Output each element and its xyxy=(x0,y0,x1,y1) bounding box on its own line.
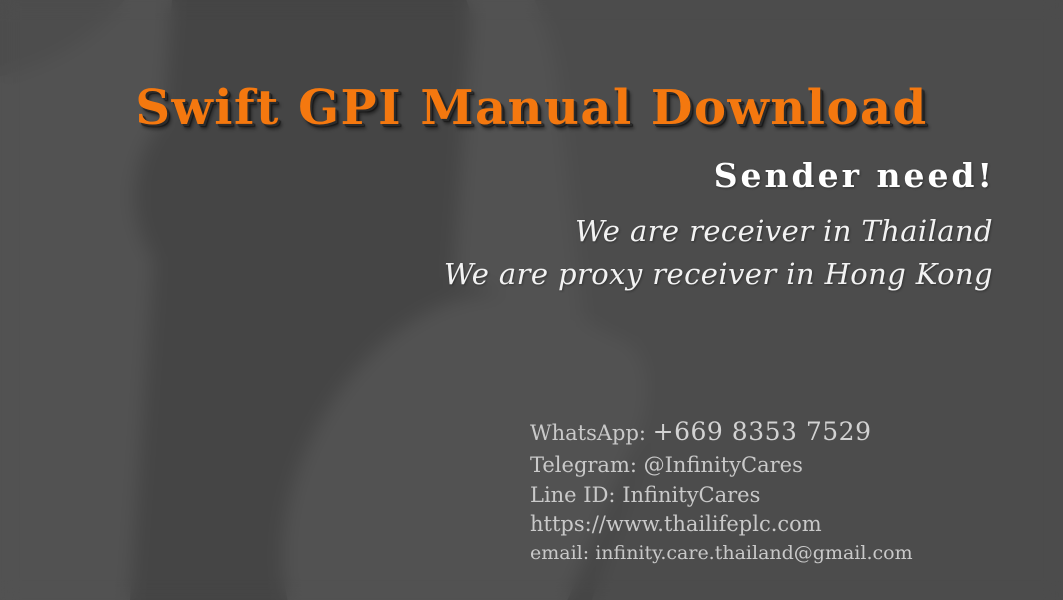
contact-email-label: email: xyxy=(530,542,589,564)
contact-website[interactable]: https://www.thailifeplc.com xyxy=(530,510,913,539)
tagline-line-1: We are receiver in Thailand xyxy=(444,210,993,253)
contact-whatsapp: WhatsApp: +669 8353 7529 xyxy=(530,416,913,449)
page-title: Swift GPI Manual Download xyxy=(0,80,1063,136)
tagline-line-2: We are proxy receiver in Hong Kong xyxy=(444,253,993,296)
contact-email: email: infinity.care.thailand@gmail.com xyxy=(530,539,913,568)
slide-canvas: Swift GPI Manual Download Sender need! W… xyxy=(0,0,1063,600)
contact-line-id-label: Line ID: xyxy=(530,483,616,507)
contact-telegram: Telegram: @InfinityCares xyxy=(530,449,913,481)
subtitle-sender-need: Sender need! xyxy=(714,156,995,195)
contact-line-id-value[interactable]: InfinityCares xyxy=(622,483,760,507)
contact-telegram-label: Telegram: xyxy=(530,453,637,477)
contact-block: WhatsApp: +669 8353 7529 Telegram: @Infi… xyxy=(530,416,913,568)
contact-telegram-value[interactable]: @InfinityCares xyxy=(644,453,803,477)
contact-line-id: Line ID: InfinityCares xyxy=(530,481,913,510)
content-layer: Swift GPI Manual Download Sender need! W… xyxy=(0,0,1063,600)
tagline-group: We are receiver in Thailand We are proxy… xyxy=(444,210,993,296)
contact-whatsapp-label: WhatsApp: xyxy=(530,421,646,445)
contact-email-value[interactable]: infinity.care.thailand@gmail.com xyxy=(595,542,912,564)
contact-whatsapp-value[interactable]: +669 8353 7529 xyxy=(653,417,872,446)
